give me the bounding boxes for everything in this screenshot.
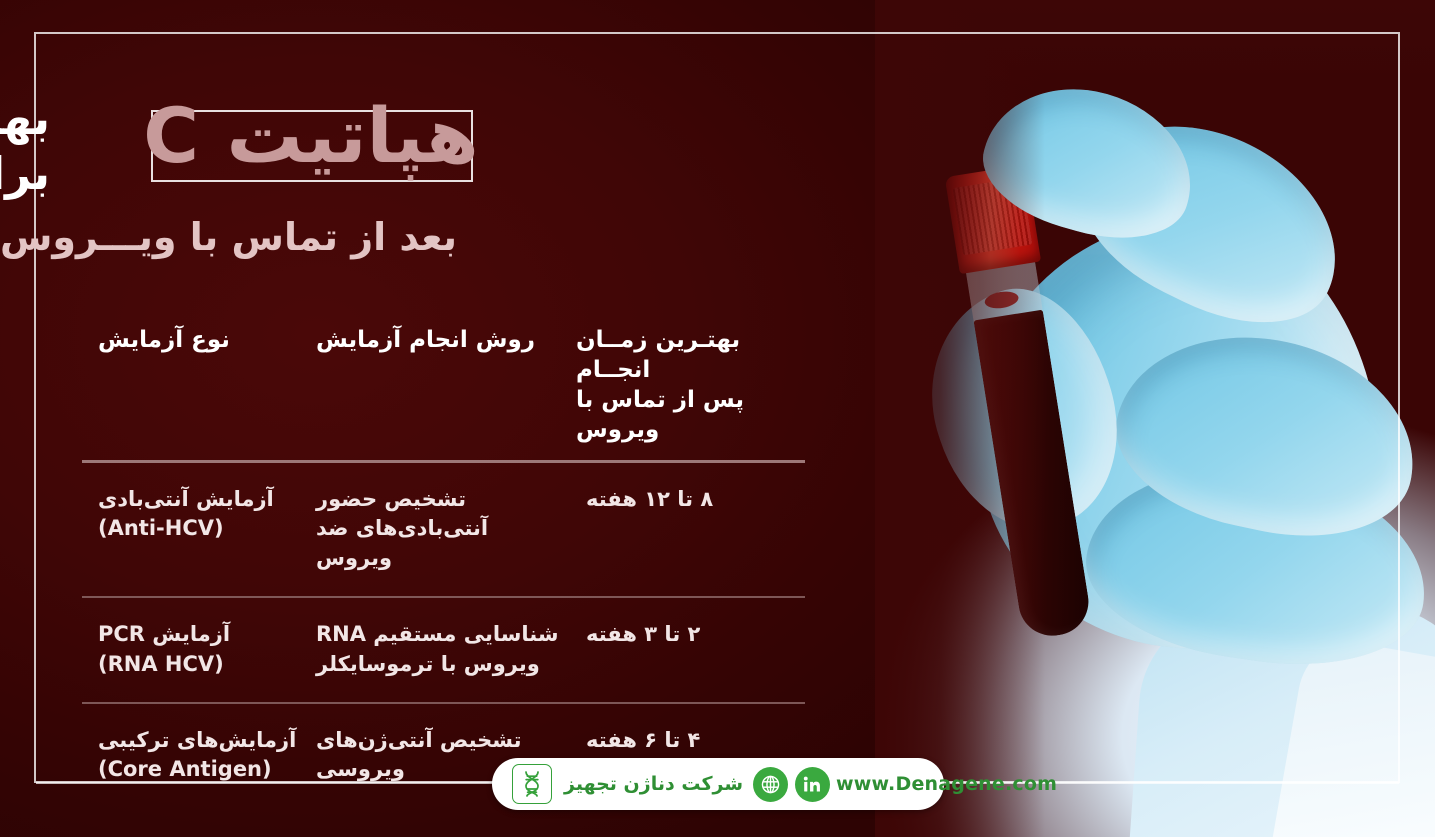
cell-method-line-2: آنتی‌بادی‌های ضد ویروس (316, 514, 560, 574)
cell-type-fa: آزمایش آنتی‌بادی (98, 485, 300, 515)
infographic-poster: هپاتیت C بهترین زمـــان برای آزمـــایش ب… (0, 0, 1435, 837)
column-header-time-line-1: بهتـرین زمــان انجــام (576, 326, 805, 386)
cell-method-line-1: تشخیص حضور (316, 485, 560, 515)
table-header-row: بهتـرین زمــان انجــام پس از تماس با ویر… (82, 326, 805, 456)
cell-method: شناسایی مستقیم RNA ویروس با ترموسایکلر (300, 620, 560, 680)
cell-type: آزمایش‌های ترکیبی (Core Antigen) (82, 726, 300, 786)
table-row: ۲ تا ۳ هفته شناسایی مستقیم RNA ویروس با … (82, 598, 805, 702)
dna-helix-icon (512, 764, 552, 804)
headline-main: بهترین زمـــان برای آزمـــایش (0, 92, 760, 200)
headline-line-1: بهترین زمـــان (0, 92, 760, 145)
cell-type-fa: آزمایش PCR (98, 620, 300, 650)
cell-method: تشخیص حضور آنتی‌بادی‌های ضد ویروس (300, 485, 560, 574)
cell-type-en: (RNA HCV) (98, 650, 224, 680)
social-icons (753, 767, 830, 802)
table-row-rule (82, 596, 805, 598)
photo-left-fade (875, 0, 1045, 837)
table-body: ۸ تا ۱۲ هفته تشخیص حضور آنتی‌بادی‌های ضد… (82, 463, 805, 808)
cell-type: آزمایش آنتی‌بادی (Anti-HCV) (82, 485, 300, 545)
cell-time: ۴ تا ۶ هفته (560, 726, 805, 756)
globe-icon[interactable] (753, 767, 788, 802)
cell-method-line-1: شناسایی مستقیم RNA (316, 620, 560, 650)
headline-line-2: برای آزمـــایش (0, 147, 760, 200)
footer-brand-badge: شرکت دناژن تجهیز (492, 758, 944, 810)
column-header-method: روش انجام آزمایش (300, 326, 560, 366)
cell-time: ۸ تا ۱۲ هفته (560, 485, 805, 515)
cell-type-fa: آزمایش‌های ترکیبی (98, 726, 300, 756)
hero-photo (875, 0, 1435, 837)
testing-schedule-table: بهتـرین زمــان انجــام پس از تماس با ویر… (82, 326, 805, 807)
cell-method-line-2: ویروس با ترموسایکلر (316, 650, 560, 680)
table-header: بهتـرین زمــان انجــام پس از تماس با ویر… (82, 326, 805, 463)
table-row: ۸ تا ۱۲ هفته تشخیص حضور آنتی‌بادی‌های ضد… (82, 463, 805, 596)
table-row-rule (82, 702, 805, 704)
column-header-time-line-2: پس از تماس با ویروس (576, 386, 805, 446)
column-header-type: نوع آزمایش (82, 326, 300, 366)
headline-subtitle: بعد از تماس با ویـــروس (0, 215, 668, 259)
website-url[interactable]: www.Denagene.com (836, 773, 1057, 795)
linkedin-icon[interactable] (795, 767, 830, 802)
cell-type: آزمایش PCR (RNA HCV) (82, 620, 300, 680)
company-name: شرکت دناژن تجهیز (564, 773, 743, 795)
cell-type-en: (Anti-HCV) (98, 514, 224, 544)
cell-time: ۲ تا ۳ هفته (560, 620, 805, 650)
cell-method-line-1: تشخیص آنتی‌ژن‌های (316, 726, 560, 756)
cell-type-en: (Core Antigen) (98, 755, 272, 785)
column-header-time: بهتـرین زمــان انجــام پس از تماس با ویر… (560, 326, 805, 456)
